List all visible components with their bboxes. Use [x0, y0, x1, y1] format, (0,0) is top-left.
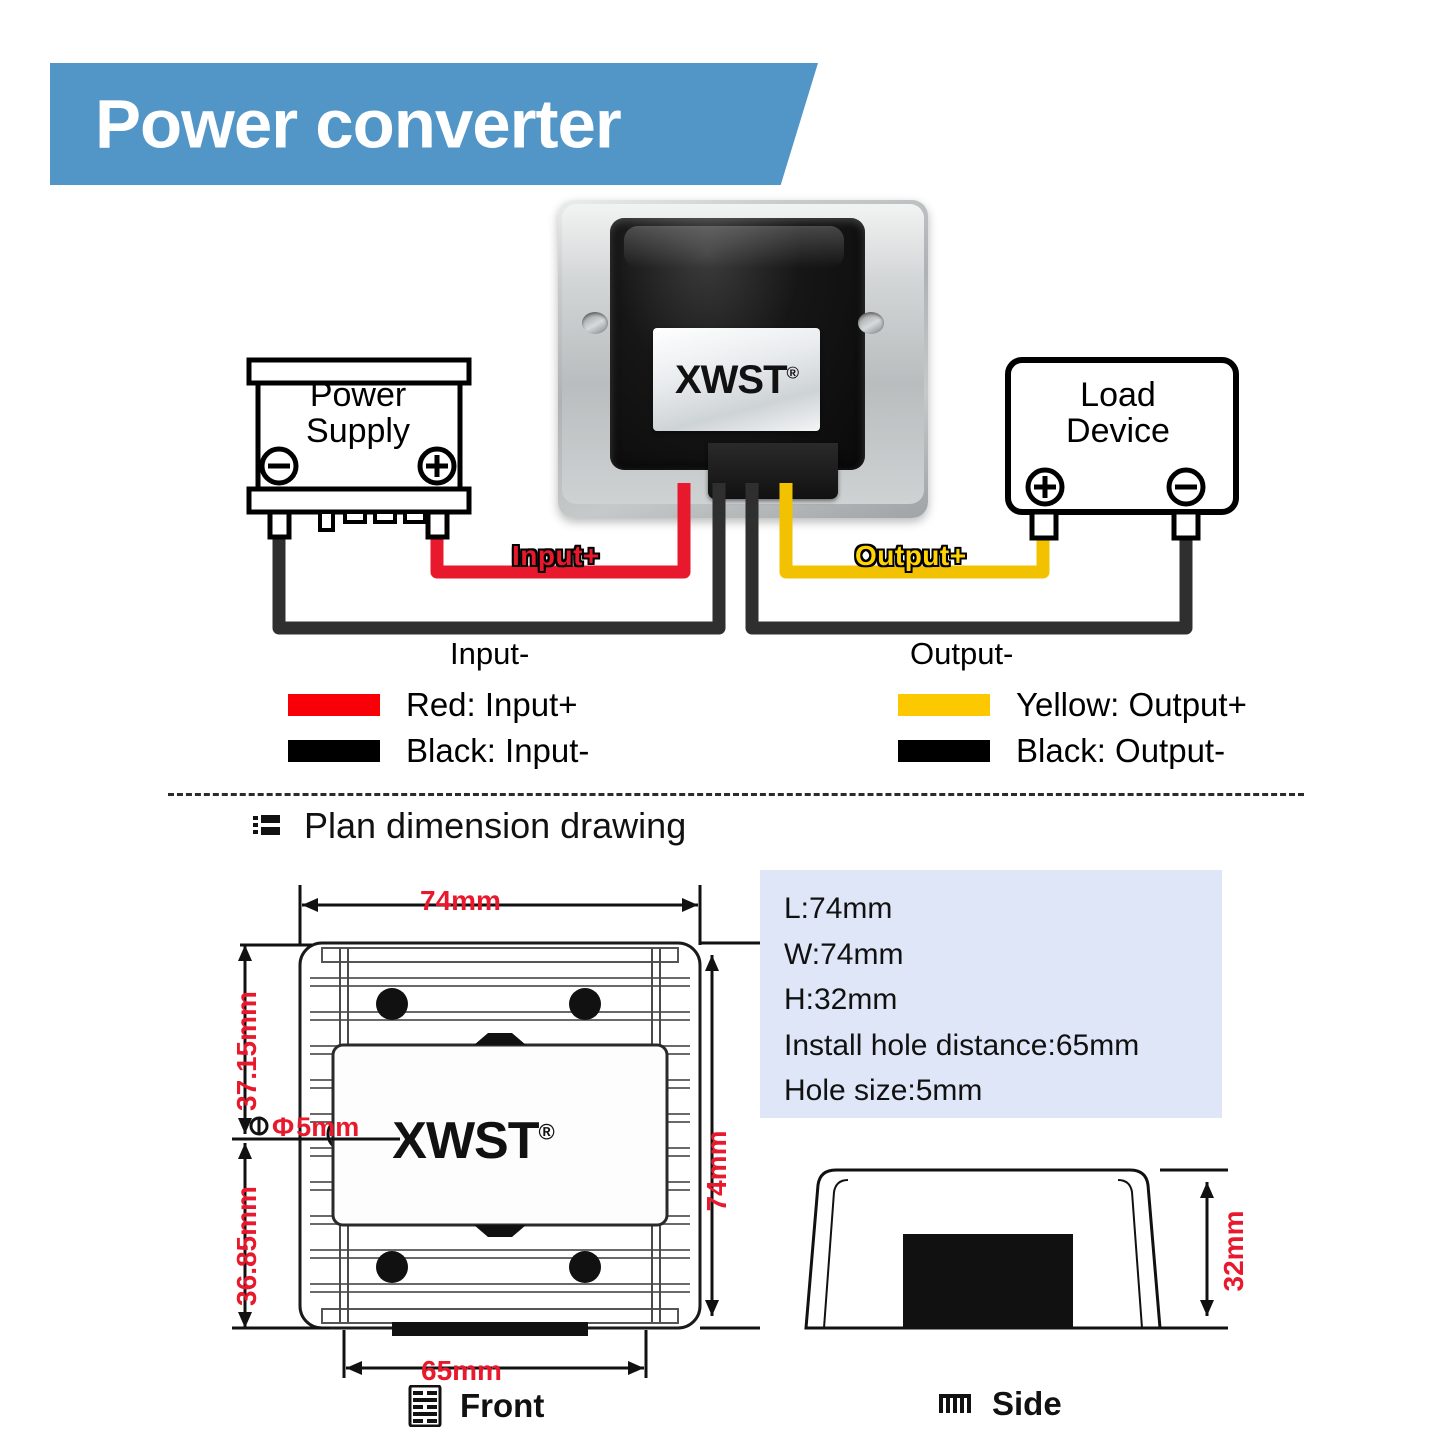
legend-swatch-yellow: [898, 694, 990, 716]
sv-body-outline: [806, 1170, 1160, 1328]
ps-bottom-bar: [249, 489, 469, 512]
legend-item-red-input-plus: Red: Input+: [288, 686, 728, 724]
device-mounting-hole-right: [858, 312, 884, 334]
spec-hole-distance: Install hole distance:65mm: [784, 1023, 1222, 1069]
front-grille-icon: [408, 1385, 442, 1427]
fv-plate-clip-top: [474, 1033, 526, 1045]
ps-post-plus: [428, 512, 447, 537]
dim-hole-diameter-symbol: Φ: [272, 1112, 294, 1142]
ld-minus-terminal-icon: [1169, 470, 1203, 504]
legend-swatch-red: [288, 694, 380, 716]
input-plus-wire-label: Input+: [512, 540, 600, 572]
dim-width-bottom-text: 65mm: [421, 1355, 502, 1387]
fv-connector-strip: [392, 1322, 588, 1336]
power-supply-label-line1: Power: [258, 377, 458, 413]
section-divider: [168, 793, 1304, 796]
plan-dimension-heading-text: Plan dimension drawing: [304, 805, 686, 847]
ld-plus-terminal-icon: [1028, 470, 1062, 504]
output-plus-wire-label: Output+: [855, 540, 967, 572]
ps-tab-4: [405, 512, 425, 522]
ps-post-minus: [270, 512, 289, 537]
fv-install-hole-right: [630, 1118, 662, 1150]
ps-tab-3: [375, 512, 395, 522]
dim-height-right-text: 74mm: [701, 1096, 733, 1246]
dim-hole-diameter-value: 5mm: [296, 1112, 359, 1142]
side-view-caption: Side: [938, 1385, 1062, 1423]
load-device-label-line2: Device: [1018, 413, 1218, 449]
input-minus-wire-label: Input-: [450, 636, 529, 672]
load-device-label: Load Device: [1018, 377, 1218, 449]
converter-device-photo: XWST®: [558, 200, 928, 540]
ld-post-plus: [1032, 512, 1056, 538]
ps-minus-terminal-icon: [262, 449, 296, 483]
legend-item-yellow-output-plus: Yellow: Output+: [728, 686, 1168, 724]
output-minus-wire-label: Output-: [910, 636, 1013, 672]
fv-top-flange: [322, 948, 678, 962]
front-view-caption: Front: [408, 1385, 544, 1427]
wire-color-legend: Red: Input+ Yellow: Output+ Black: Input…: [288, 686, 1168, 778]
legend-text-yellow-output-plus: Yellow: Output+: [1016, 686, 1247, 724]
spec-length: L:74mm: [784, 886, 1222, 932]
device-brand-name: XWST: [675, 358, 787, 402]
plan-dimension-heading: Plan dimension drawing: [252, 805, 686, 847]
legend-item-black-input-minus: Black: Input-: [288, 732, 728, 770]
side-fins-icon: [938, 1392, 974, 1416]
dim-side-height-text: 32mm: [1218, 1186, 1250, 1316]
legend-row: Black: Input- Black: Output-: [288, 732, 1168, 769]
sv-inner-wall-right: [1118, 1180, 1142, 1328]
power-supply-label-line2: Supply: [258, 413, 458, 449]
device-brand-label: XWST®: [653, 328, 820, 431]
ps-tab-2: [345, 512, 365, 522]
dim-hole-diameter-text: Φ5mm: [272, 1112, 359, 1143]
front-view-registered-mark: ®: [539, 1120, 554, 1145]
sv-potting-block: [903, 1234, 1073, 1328]
front-view-brand-text: XWST®: [353, 1115, 593, 1167]
side-view-drawing: [806, 1170, 1228, 1328]
ld-post-minus: [1174, 512, 1198, 538]
fv-bottom-flange: [322, 1309, 678, 1323]
legend-text-black-output-minus: Black: Output-: [1016, 732, 1225, 770]
device-mounting-hole-left: [582, 312, 608, 334]
legend-text-black-input-minus: Black: Input-: [406, 732, 589, 770]
dim-upper-offset-text: 37.15mm: [231, 976, 263, 1126]
ps-plus-terminal-icon: [420, 449, 454, 483]
spec-width: W:74mm: [784, 932, 1222, 978]
page-title: Power converter: [95, 90, 621, 159]
page-header-banner: Power converter: [50, 63, 855, 185]
legend-swatch-black-input: [288, 740, 380, 762]
dim-lower-offset-text: 36.85mm: [231, 1171, 263, 1321]
legend-text-red-input-plus: Red: Input+: [406, 686, 578, 724]
legend-item-black-output-minus: Black: Output-: [728, 732, 1168, 770]
device-potting-gloss: [624, 226, 844, 268]
sv-inner-wall-left: [824, 1180, 848, 1328]
side-view-caption-text: Side: [992, 1385, 1062, 1423]
dim-width-top-text: 74mm: [420, 885, 501, 917]
legend-swatch-black-output: [898, 740, 990, 762]
load-device-label-line1: Load: [1018, 377, 1218, 413]
spec-height: H:32mm: [784, 977, 1222, 1023]
device-brand-registered-mark: ®: [787, 363, 799, 382]
ps-tab-1: [320, 512, 333, 530]
device-wire-connector-block: [708, 443, 838, 499]
power-supply-label: Power Supply: [258, 377, 458, 449]
specifications-panel: L:74mm W:74mm H:32mm Install hole distan…: [760, 870, 1222, 1118]
rack-panel-icon: [252, 811, 282, 841]
front-view-brand-name: XWST: [392, 1112, 538, 1170]
front-view-caption-text: Front: [460, 1387, 544, 1425]
legend-row: Red: Input+ Yellow: Output+: [288, 686, 1168, 723]
spec-hole-size: Hole size:5mm: [784, 1068, 1222, 1114]
fv-plate-clip-bottom: [474, 1225, 526, 1237]
device-brand-text: XWST®: [675, 360, 798, 400]
